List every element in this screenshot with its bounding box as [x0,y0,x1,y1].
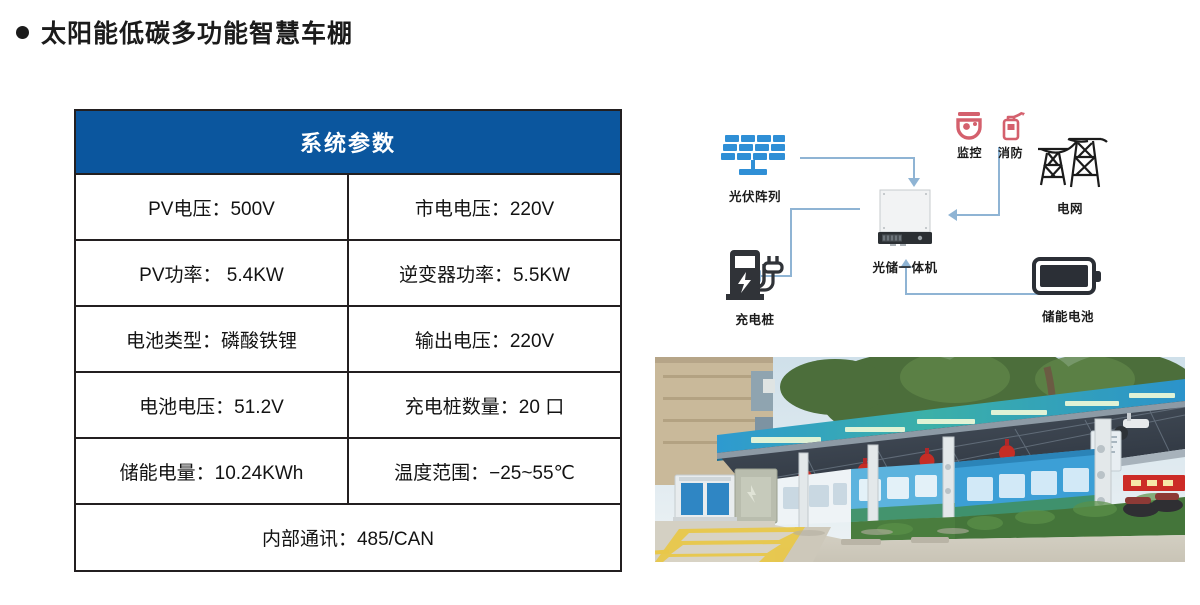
table-header-title: 系统参数 [75,110,621,174]
diagram-label-fire: 消防 [998,144,1023,161]
diagram-label-pv-array: 光伏阵列 [710,186,800,205]
bullet-dot-icon [16,26,29,39]
cell-mains-voltage: 市电电压：220V [348,174,621,240]
cell-storage-capacity: 储能电量：10.24KWh [75,438,348,504]
power-tower-icon [1031,135,1109,191]
cell-output-voltage: 输出电压：220V [348,306,621,372]
arrow-pv-to-inverter-horizontal [800,157,915,159]
arrow-head-into-inverter-top [908,178,920,187]
diagram-node-inverter: 光储一体机 [860,188,950,276]
diagram-label-monitor: 监控 [957,144,982,161]
table-row: PV功率： 5.4KW 逆变器功率：5.5KW [75,240,621,306]
table-row: 内部通讯：485/CAN [75,504,621,571]
cell-temperature-range: 温度范围：−25~55℃ [348,438,621,504]
diagram-node-charging-pile: 充电桩 [710,250,800,328]
table-header-row: 系统参数 [75,110,621,174]
system-architecture-diagram: 光伏阵列 监控 [650,95,1190,345]
cell-battery-voltage: 电池电压：51.2V [75,372,348,438]
arrow-safety-to-inverter-horizontal [956,214,1000,216]
diagram-node-power-grid: 电网 [1025,135,1115,217]
diagram-label-charging-pile: 充电桩 [710,309,800,328]
cell-battery-type: 电池类型：磷酸铁锂 [75,306,348,372]
diagram-label-battery: 储能电池 [1020,306,1116,325]
cell-charger-count: 充电桩数量：20 口 [348,372,621,438]
cell-pv-power: PV功率： 5.4KW [75,240,348,306]
cell-internal-communication: 内部通讯：485/CAN [75,504,621,571]
cctv-camera-icon [954,111,984,141]
page-title-text: 太阳能低碳多功能智慧车棚 [41,14,353,50]
fire-extinguisher-icon [997,111,1027,141]
table-row: 电池电压：51.2V 充电桩数量：20 口 [75,372,621,438]
system-parameters-table: 系统参数 PV电压：500V 市电电压：220V PV功率： 5.4KW 逆变器… [74,109,622,572]
arrow-pv-to-inverter-vertical [913,157,915,179]
diagram-label-inverter: 光储一体机 [860,257,950,276]
solar-panel-icon [715,133,795,179]
page-title: 太阳能低碳多功能智慧车棚 [16,14,353,50]
diagram-node-pv-array: 光伏阵列 [710,133,800,205]
diagram-node-battery: 储能电池 [1020,255,1116,325]
diagram-label-power-grid: 电网 [1025,198,1115,217]
table-row: 电池类型：磷酸铁锂 输出电压：220V [75,306,621,372]
inverter-box-icon [874,188,936,250]
table-row: 储能电量：10.24KWh 温度范围：−25~55℃ [75,438,621,504]
carport-photo [655,357,1185,562]
charging-pile-icon [722,250,788,302]
table-row: PV电压：500V 市电电压：220V [75,174,621,240]
cell-inverter-power: 逆变器功率：5.5KW [348,240,621,306]
arrow-inverter-to-charger-top [790,208,860,210]
carport-photo-illustration [655,357,1185,562]
battery-icon [1032,255,1104,299]
cell-pv-voltage: PV电压：500V [75,174,348,240]
